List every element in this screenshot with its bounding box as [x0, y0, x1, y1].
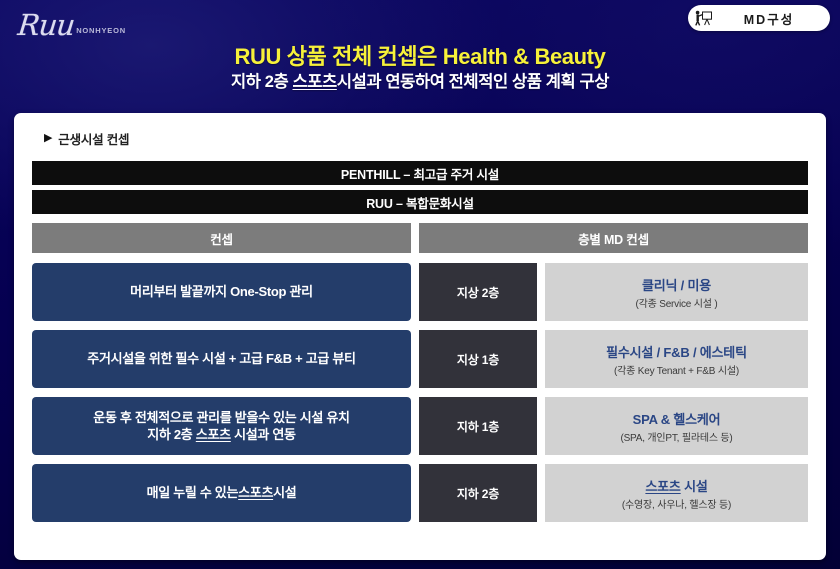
concept-cell: 매일 누릴 수 있는 스포츠 시설 [32, 464, 411, 522]
md-concept-title: 필수시설 / F&B / 에스테틱 [606, 342, 747, 361]
concept-cell: 주거시설을 위한 필수 시설 + 고급 F&B + 고급 뷰티 [32, 330, 411, 388]
md-section-badge-label: MD구성 [722, 9, 816, 28]
table-row: 머리부터 발끝까지 One-Stop 관리 지상 2층 클리닉 / 미용 (각종… [32, 263, 808, 321]
slide-subtitle: 지하 2층 스포츠시설과 연동하여 전체적인 상품 계획 구상 [0, 73, 840, 93]
md-concept-cell: SPA & 헬스케어 (SPA, 개인PT, 필라테스 등) [545, 397, 808, 455]
banner-ruu: RUU – 복합문화시설 [32, 190, 808, 214]
md-concept-cell: 클리닉 / 미용 (각종 Service 시설 ) [545, 263, 808, 321]
floor-label: 지상 2층 [419, 263, 537, 321]
floor-label: 지상 1층 [419, 330, 537, 388]
table-header-row: 컨셉 층별 MD 컨셉 [32, 223, 808, 253]
floor-label: 지하 2층 [419, 464, 537, 522]
brand-logo: Ruu NONHYEON [18, 2, 126, 40]
md-title-post: 시설 [681, 479, 708, 494]
banner-penthill: PENTHILL – 최고급 주거 시설 [32, 161, 808, 185]
md-concept-cell: 필수시설 / F&B / 에스테틱 (각종 Key Tenant + F&B 시… [545, 330, 808, 388]
presenter-icon [692, 7, 714, 29]
md-concept-title: 클리닉 / 미용 [642, 275, 711, 294]
md-concept-title: SPA & 헬스케어 [633, 409, 721, 428]
slide-subtitle-underline: 스포츠 [292, 73, 336, 91]
concept-cell: 운동 후 전체적으로 관리를 받을수 있는 시설 유치 지하 2층 스포츠 시설… [32, 397, 411, 455]
brand-logo-subtext: NONHYEON [76, 26, 126, 40]
concept-line2-post: 시설과 연동 [231, 427, 296, 442]
concept-underline: 스포츠 [238, 484, 273, 501]
concept-post: 시설 [273, 484, 296, 501]
md-concept-note: (SPA, 개인PT, 필라테스 등) [620, 429, 732, 444]
brand-logo-mark: Ruu [16, 11, 75, 40]
md-concept-cell: 스포츠 시설 (수영장, 사우나, 헬스장 등) [545, 464, 808, 522]
column-header-md-concept: 층별 MD 컨셉 [419, 223, 808, 253]
triangle-marker-icon: ▶ [44, 133, 52, 144]
md-title-underline: 스포츠 [645, 479, 680, 494]
section-heading: ▶ 근생시설 컨셉 [30, 129, 810, 148]
md-concept-note: (각종 Service 시설 ) [636, 295, 718, 310]
concept-cell-line2: 지하 2층 스포츠 시설과 연동 [93, 426, 349, 443]
md-concept-note: (수영장, 사우나, 헬스장 등) [622, 496, 731, 511]
md-concept-title: 스포츠 시설 [645, 476, 707, 495]
content-card: ▶ 근생시설 컨셉 PENTHILL – 최고급 주거 시설 RUU – 복합문… [14, 113, 826, 560]
section-heading-label: 근생시설 컨셉 [58, 129, 129, 148]
slide-title-block: RUU 상품 전체 컨셉은 Health & Beauty 지하 2층 스포츠시… [0, 44, 840, 93]
md-section-badge[interactable]: MD구성 [688, 5, 830, 31]
table-row: 운동 후 전체적으로 관리를 받을수 있는 시설 유치 지하 2층 스포츠 시설… [32, 397, 808, 455]
floor-label: 지하 1층 [419, 397, 537, 455]
concept-line2-pre: 지하 2층 [147, 427, 196, 442]
concept-cell: 머리부터 발끝까지 One-Stop 관리 [32, 263, 411, 321]
table-body: 머리부터 발끝까지 One-Stop 관리 지상 2층 클리닉 / 미용 (각종… [32, 263, 808, 522]
concept-line2-underline: 스포츠 [196, 427, 231, 442]
concept-cell-line1: 운동 후 전체적으로 관리를 받을수 있는 시설 유치 [93, 409, 349, 426]
column-header-concept: 컨셉 [32, 223, 411, 253]
slide-title: RUU 상품 전체 컨셉은 Health & Beauty [0, 44, 840, 70]
table-row: 주거시설을 위한 필수 시설 + 고급 F&B + 고급 뷰티 지상 1층 필수… [32, 330, 808, 388]
table-row: 매일 누릴 수 있는 스포츠 시설 지하 2층 스포츠 시설 (수영장, 사우나… [32, 464, 808, 522]
slide-subtitle-pre: 지하 2층 [231, 73, 293, 91]
slide-subtitle-post: 시설과 연동하여 전체적인 상품 계획 구상 [337, 73, 609, 91]
md-concept-note: (각종 Key Tenant + F&B 시설) [614, 362, 739, 377]
concept-pre: 매일 누릴 수 있는 [147, 484, 239, 501]
